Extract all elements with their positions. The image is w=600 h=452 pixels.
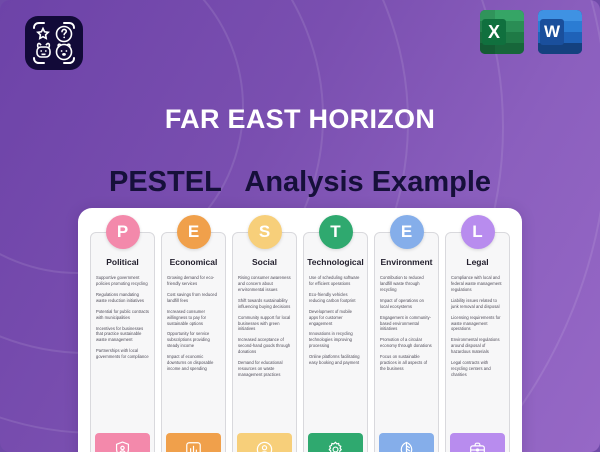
gear-icon [308, 433, 363, 452]
list-item: Regulations mandating waste reduction in… [96, 292, 149, 304]
column-title: Technological [304, 257, 367, 273]
list-item: Incentives for businesses that practice … [96, 326, 149, 344]
list-item: Supportive government policies promoting… [96, 275, 149, 287]
column-badge-s-2: S [248, 215, 282, 249]
page-title-lead: PESTEL [109, 166, 221, 198]
column-title: Social [233, 257, 296, 273]
excel-icon-letter: X [482, 19, 506, 45]
list-item: Use of scheduling software for efficient… [309, 275, 362, 287]
list-item: Eco-friendly vehicles reducing carbon fo… [309, 292, 362, 304]
leaf-icon [379, 433, 434, 452]
list-item: Shift towards sustainability influencing… [238, 298, 291, 310]
column-badge-e-1: E [177, 215, 211, 249]
brand-title: FAR EAST HORIZON [0, 104, 600, 135]
column-items: Rising consumer awareness and concern ab… [233, 273, 296, 433]
list-item: Online platforms facilitating easy booki… [309, 354, 362, 366]
list-item: Increased acceptance of second-hand good… [238, 337, 291, 355]
word-icon-letter: W [540, 19, 564, 45]
list-item: Compliance with local and federal waste … [451, 275, 504, 293]
list-item: Cost savings from reduced landfill fees [167, 292, 220, 304]
list-item: Impact of operations on local ecosystems [380, 298, 433, 310]
column-badge-l-5: L [461, 215, 495, 249]
poster-canvas: X W FAR EAST HORIZON PESTEL Analysis Exa… [0, 0, 600, 452]
list-item: Rising consumer awareness and concern ab… [238, 275, 291, 293]
word-icon[interactable]: W [538, 10, 582, 54]
page-title-rest: Analysis Example [244, 166, 491, 198]
list-item: Development of mobile apps for customer … [309, 309, 362, 327]
list-item: Opportunity for service subscriptions pr… [167, 331, 220, 349]
list-item: Partnerships with local governments for … [96, 348, 149, 360]
pestel-column-technological[interactable]: TTechnologicalUse of scheduling software… [303, 232, 368, 452]
list-item: Focus on sustainable practices in all as… [380, 354, 433, 372]
pestel-column-economical[interactable]: EEconomicalGrowing demand for eco-friend… [161, 232, 226, 452]
app-icons: X W [480, 10, 582, 54]
list-item: Contribution to reduced landfill waste t… [380, 275, 433, 293]
column-badge-p-0: P [106, 215, 140, 249]
column-title: Environment [375, 257, 438, 273]
column-items: Compliance with local and federal waste … [446, 273, 509, 433]
pestel-table: PPoliticalSupportive government policies… [78, 208, 522, 452]
list-item: Community support for local businesses w… [238, 315, 291, 333]
pestel-columns: PPoliticalSupportive government policies… [90, 232, 510, 452]
column-badge-e-4: E [390, 215, 424, 249]
list-item: Liability issues related to junk removal… [451, 298, 504, 310]
list-item: Engagement in community-based environmen… [380, 315, 433, 333]
column-title: Legal [446, 257, 509, 273]
column-items: Supportive government policies promoting… [91, 273, 154, 433]
list-item: Innovations in recycling technologies im… [309, 331, 362, 349]
list-item: Potential for public contracts with muni… [96, 309, 149, 321]
excel-icon[interactable]: X [480, 10, 524, 54]
list-item: Legal contracts with recycling centers a… [451, 360, 504, 378]
list-item: Licensing requirements for waste managem… [451, 315, 504, 333]
column-items: Growing demand for eco-friendly services… [162, 273, 225, 433]
pestel-column-legal[interactable]: LLegalCompliance with local and federal … [445, 232, 510, 452]
pestel-column-social[interactable]: SSocialRising consumer awareness and con… [232, 232, 297, 452]
list-item: Increased consumer willingness to pay fo… [167, 309, 220, 327]
column-badge-t-3: T [319, 215, 353, 249]
column-items: Contribution to reduced landfill waste t… [375, 273, 438, 433]
person-circle-icon [237, 433, 292, 452]
briefcase-icon [450, 433, 505, 452]
pestel-column-environment[interactable]: EEnvironmentContribution to reduced land… [374, 232, 439, 452]
list-item: Demand for educational resources on wast… [238, 360, 291, 378]
list-item: Impact of economic downturns on disposab… [167, 354, 220, 372]
column-items: Use of scheduling software for efficient… [304, 273, 367, 433]
list-item: Environmental regulations around disposa… [451, 337, 504, 355]
list-item: Growing demand for eco-friendly services [167, 275, 220, 287]
app-logo-grid[interactable] [22, 14, 86, 72]
column-title: Economical [162, 257, 225, 273]
list-item: Promotion of a circular economy through … [380, 337, 433, 349]
bar-chart-icon [166, 433, 221, 452]
column-title: Political [91, 257, 154, 273]
page-title: PESTEL Analysis Example [0, 166, 600, 199]
pestel-column-political[interactable]: PPoliticalSupportive government policies… [90, 232, 155, 452]
shield-person-icon [95, 433, 150, 452]
